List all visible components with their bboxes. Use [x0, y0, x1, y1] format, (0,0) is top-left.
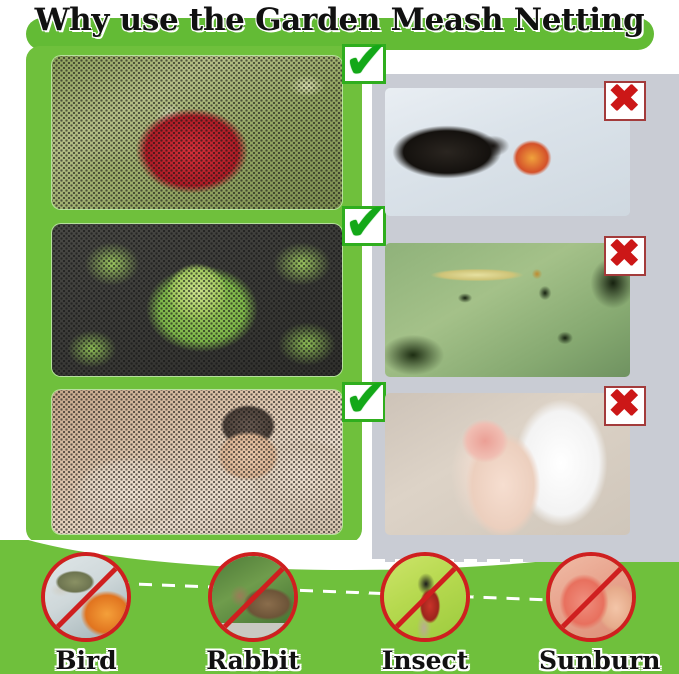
poster: Why use the Garden Meash Netting ✔ ✔ ✔ ✖…	[0, 0, 679, 674]
sunburn-no-icon	[546, 552, 636, 642]
pest-label: Sunburn	[539, 646, 643, 674]
red-x-icon: ✖	[607, 236, 641, 273]
insect-no-icon	[380, 552, 470, 642]
pest-label: Insect	[373, 646, 477, 674]
photo-apple-image	[52, 56, 342, 209]
page-title: Why use the Garden Meash Netting	[0, 0, 679, 46]
photo-bird-eating-apple	[385, 88, 630, 216]
green-check-icon: ✔	[344, 44, 388, 78]
pest-item-sunburn: Sunburn	[539, 552, 643, 674]
bird-no-icon	[41, 552, 131, 642]
pest-label: Bird	[34, 646, 138, 674]
photo-sleeping-child-with-netting	[52, 390, 342, 534]
photo-leaf-image	[385, 243, 630, 377]
photo-apple-with-netting	[52, 56, 342, 209]
photo-lettuce-with-netting	[52, 224, 342, 376]
photo-child-image	[52, 390, 342, 534]
green-check-icon: ✔	[344, 206, 388, 240]
photo-sunburned-arm	[385, 393, 630, 535]
pest-item-rabbit: Rabbit	[201, 552, 305, 674]
rabbit-no-icon	[208, 552, 298, 642]
red-x-icon: ✖	[607, 386, 641, 423]
photo-caterpillar-on-leaf	[385, 243, 630, 377]
pest-label: Rabbit	[201, 646, 305, 674]
photo-lettuce-image	[52, 224, 342, 376]
red-x-icon: ✖	[607, 81, 641, 118]
photo-bird-image	[385, 88, 630, 216]
photo-skin-image	[385, 393, 630, 535]
green-check-icon: ✔	[344, 382, 388, 416]
pest-item-bird: Bird	[34, 552, 138, 674]
pest-item-insect: Insect	[373, 552, 477, 674]
